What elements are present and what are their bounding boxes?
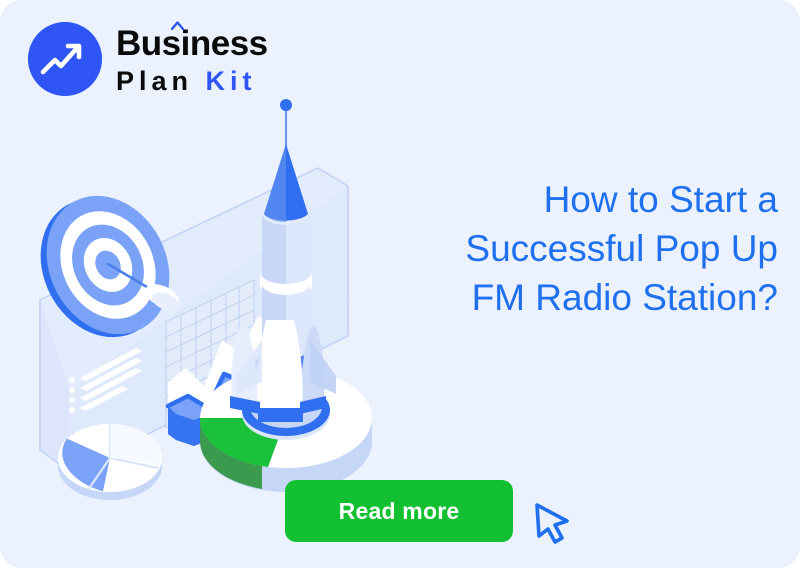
promo-banner-card: Business Plan Kit bbox=[0, 0, 800, 568]
headline-line-3: FM Radio Station? bbox=[348, 274, 778, 323]
logo[interactable]: Business Plan Kit bbox=[28, 22, 268, 96]
headline-line-2: Successful Pop Up bbox=[348, 225, 778, 274]
logo-business-text: Business bbox=[116, 24, 268, 63]
pie-chart bbox=[56, 424, 162, 500]
logo-line-business: Business bbox=[116, 26, 268, 61]
mouse-cursor-arrow-icon bbox=[531, 500, 575, 548]
growth-chart-circle-icon bbox=[28, 22, 102, 96]
cta-row: Read more bbox=[285, 474, 575, 548]
read-more-button[interactable]: Read more bbox=[285, 480, 513, 542]
logo-wordmark: Business Plan Kit bbox=[116, 24, 268, 95]
page-title: How to Start a Successful Pop Up FM Radi… bbox=[348, 176, 778, 322]
headline-line-1: How to Start a bbox=[348, 176, 778, 225]
chevron-accent-icon bbox=[171, 21, 184, 30]
